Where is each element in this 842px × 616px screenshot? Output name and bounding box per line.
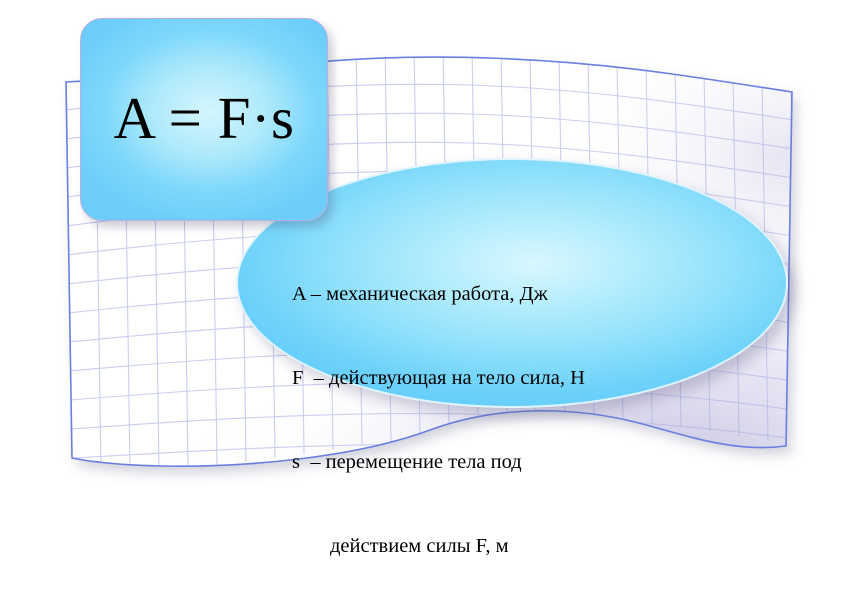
formula-card: A = F·s [80,18,328,221]
legend-line-s: s – перемещение тела под [292,448,742,476]
legend-text-block: A – механическая работа, Дж F – действую… [292,224,742,616]
formula-text: A = F·s [113,89,294,148]
legend-line-s-cont: действием силы F, м [292,532,742,560]
legend-line-f: F – действующая на тело сила, Н [292,364,742,392]
legend-line-a: A – механическая работа, Дж [292,280,742,308]
slide-canvas: A – механическая работа, Дж F – действую… [0,0,842,523]
